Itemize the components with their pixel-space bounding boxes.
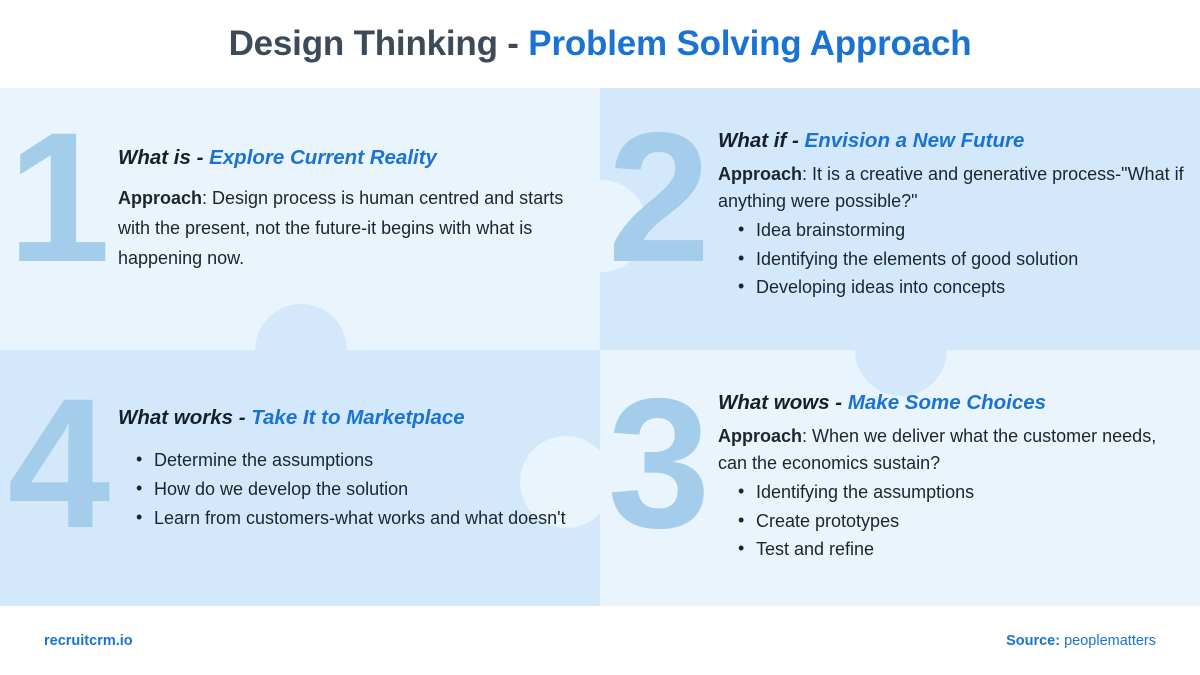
quadrant-3-heading-dark: What wows - bbox=[718, 391, 848, 414]
quadrant-1-heading-blue: Explore Current Reality bbox=[209, 146, 437, 169]
page-title-blue: Problem Solving Approach bbox=[528, 24, 971, 63]
quadrant-4: 4 What works - Take It to Marketplace De… bbox=[0, 350, 600, 536]
quadrant-2-heading-blue: Envision a New Future bbox=[805, 129, 1025, 152]
quadrant-1-body: What is - Explore Current Reality Approa… bbox=[118, 146, 600, 274]
list-item: Create prototypes bbox=[756, 507, 1186, 536]
list-item: Test and refine bbox=[756, 535, 1186, 564]
quadrant-1: 1 What is - Explore Current Reality Appr… bbox=[0, 88, 600, 274]
footer: recruitcrm.io Source: peoplematters bbox=[0, 606, 1200, 675]
quadrant-4-number: 4 bbox=[0, 392, 118, 536]
quadrant-3-approach: Approach: When we deliver what the custo… bbox=[718, 423, 1186, 478]
quadrant-3-approach-label: Approach bbox=[718, 426, 802, 446]
list-item: Learn from customers-what works and what… bbox=[154, 504, 586, 533]
quadrant-4-heading-blue: Take It to Marketplace bbox=[251, 406, 464, 429]
quadrant-1-number: 1 bbox=[0, 126, 118, 270]
quadrant-3-number: 3 bbox=[600, 392, 718, 536]
quadrant-1-heading-dark: What is - bbox=[118, 146, 209, 169]
list-item: Identifying the assumptions bbox=[756, 478, 1186, 507]
infographic-page: Design Thinking - Problem Solving Approa… bbox=[0, 0, 1200, 675]
quadrant-3-heading-blue: Make Some Choices bbox=[848, 391, 1046, 414]
quadrant-2-bullets: Idea brainstorming Identifying the eleme… bbox=[718, 216, 1186, 302]
quadrant-2-heading-dark: What if - bbox=[718, 129, 805, 152]
source-label: Source: bbox=[1006, 633, 1060, 649]
quadrant-2: 2 What if - Envision a New Future Approa… bbox=[600, 88, 1200, 302]
quadrant-1-heading: What is - Explore Current Reality bbox=[118, 146, 586, 170]
list-item: How do we develop the solution bbox=[154, 475, 586, 504]
source-attribution: Source: peoplematters bbox=[1006, 633, 1156, 649]
quadrant-2-approach: Approach: It is a creative and generativ… bbox=[718, 161, 1186, 216]
list-item: Developing ideas into concepts bbox=[756, 273, 1186, 302]
quadrant-1-approach: Approach: Design process is human centre… bbox=[118, 184, 586, 274]
quadrant-1-approach-label: Approach bbox=[118, 188, 202, 208]
quadrant-4-body: What works - Take It to Marketplace Dete… bbox=[118, 406, 600, 532]
quadrant-2-heading: What if - Envision a New Future bbox=[718, 129, 1186, 153]
quadrant-3-heading: What wows - Make Some Choices bbox=[718, 391, 1186, 415]
quadrant-4-heading-dark: What works - bbox=[118, 406, 251, 429]
list-item: Identifying the elements of good solutio… bbox=[756, 245, 1186, 274]
quadrant-4-bullets: Determine the assumptions How do we deve… bbox=[118, 446, 586, 532]
list-item: Idea brainstorming bbox=[756, 216, 1186, 245]
source-value: peoplematters bbox=[1060, 633, 1156, 649]
quadrant-2-number: 2 bbox=[600, 126, 718, 270]
header: Design Thinking - Problem Solving Approa… bbox=[0, 0, 1200, 88]
brand-label: recruitcrm.io bbox=[44, 633, 133, 649]
quadrant-4-heading: What works - Take It to Marketplace bbox=[118, 406, 586, 430]
quadrant-3-bullets: Identifying the assumptions Create proto… bbox=[718, 478, 1186, 564]
quadrant-3-body: What wows - Make Some Choices Approach: … bbox=[718, 391, 1200, 564]
quadrant-2-approach-label: Approach bbox=[718, 164, 802, 184]
quadrant-3: 3 What wows - Make Some Choices Approach… bbox=[600, 350, 1200, 564]
quadrant-2-body: What if - Envision a New Future Approach… bbox=[718, 129, 1200, 302]
page-title: Design Thinking - Problem Solving Approa… bbox=[229, 24, 972, 64]
page-title-dark: Design Thinking - bbox=[229, 24, 529, 63]
list-item: Determine the assumptions bbox=[154, 446, 586, 475]
